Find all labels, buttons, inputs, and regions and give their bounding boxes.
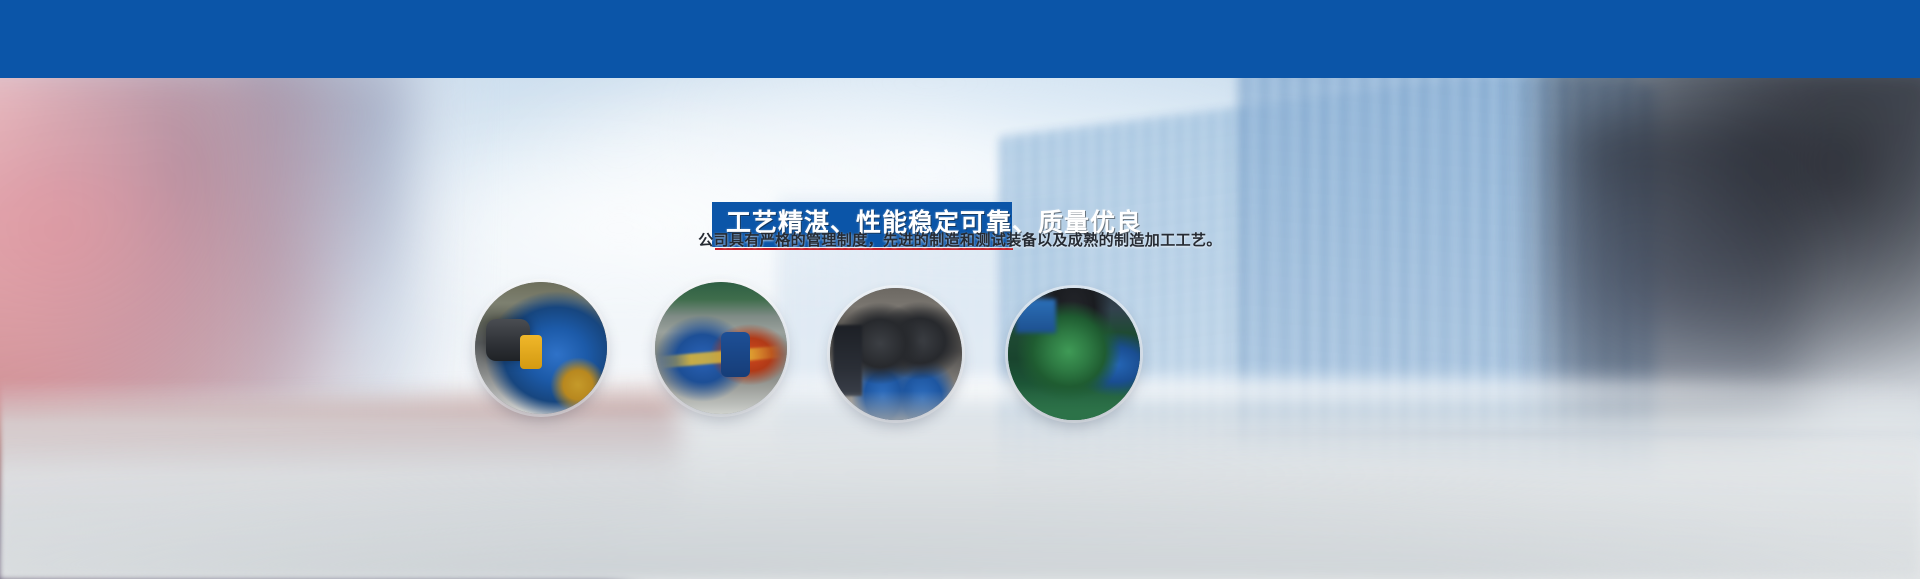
thumbnail-row [0, 282, 1920, 432]
split-case-pump-photo [475, 282, 607, 414]
thumbnail-diesel-engine-pump[interactable] [1008, 288, 1140, 420]
top-blue-bar [0, 0, 1920, 78]
diesel-engine-pump-photo [1008, 288, 1140, 420]
pump-row-photo [655, 282, 787, 414]
vertical-inline-pump-photo [830, 288, 962, 420]
ground-texture [0, 429, 1920, 579]
subtitle-text: 公司具有严格的管理制度，先进的制造和测试装备以及成熟的制造加工工艺。 [0, 229, 1920, 250]
thumbnail-pump-row[interactable] [655, 282, 787, 414]
thumbnail-vertical-inline-pump[interactable] [830, 288, 962, 420]
banner-stage: 工艺精湛、性能稳定可靠、质量优良 公司具有严格的管理制度，先进的制造和测试装备以… [0, 0, 1920, 579]
thumbnail-split-case-pump[interactable] [475, 282, 607, 414]
